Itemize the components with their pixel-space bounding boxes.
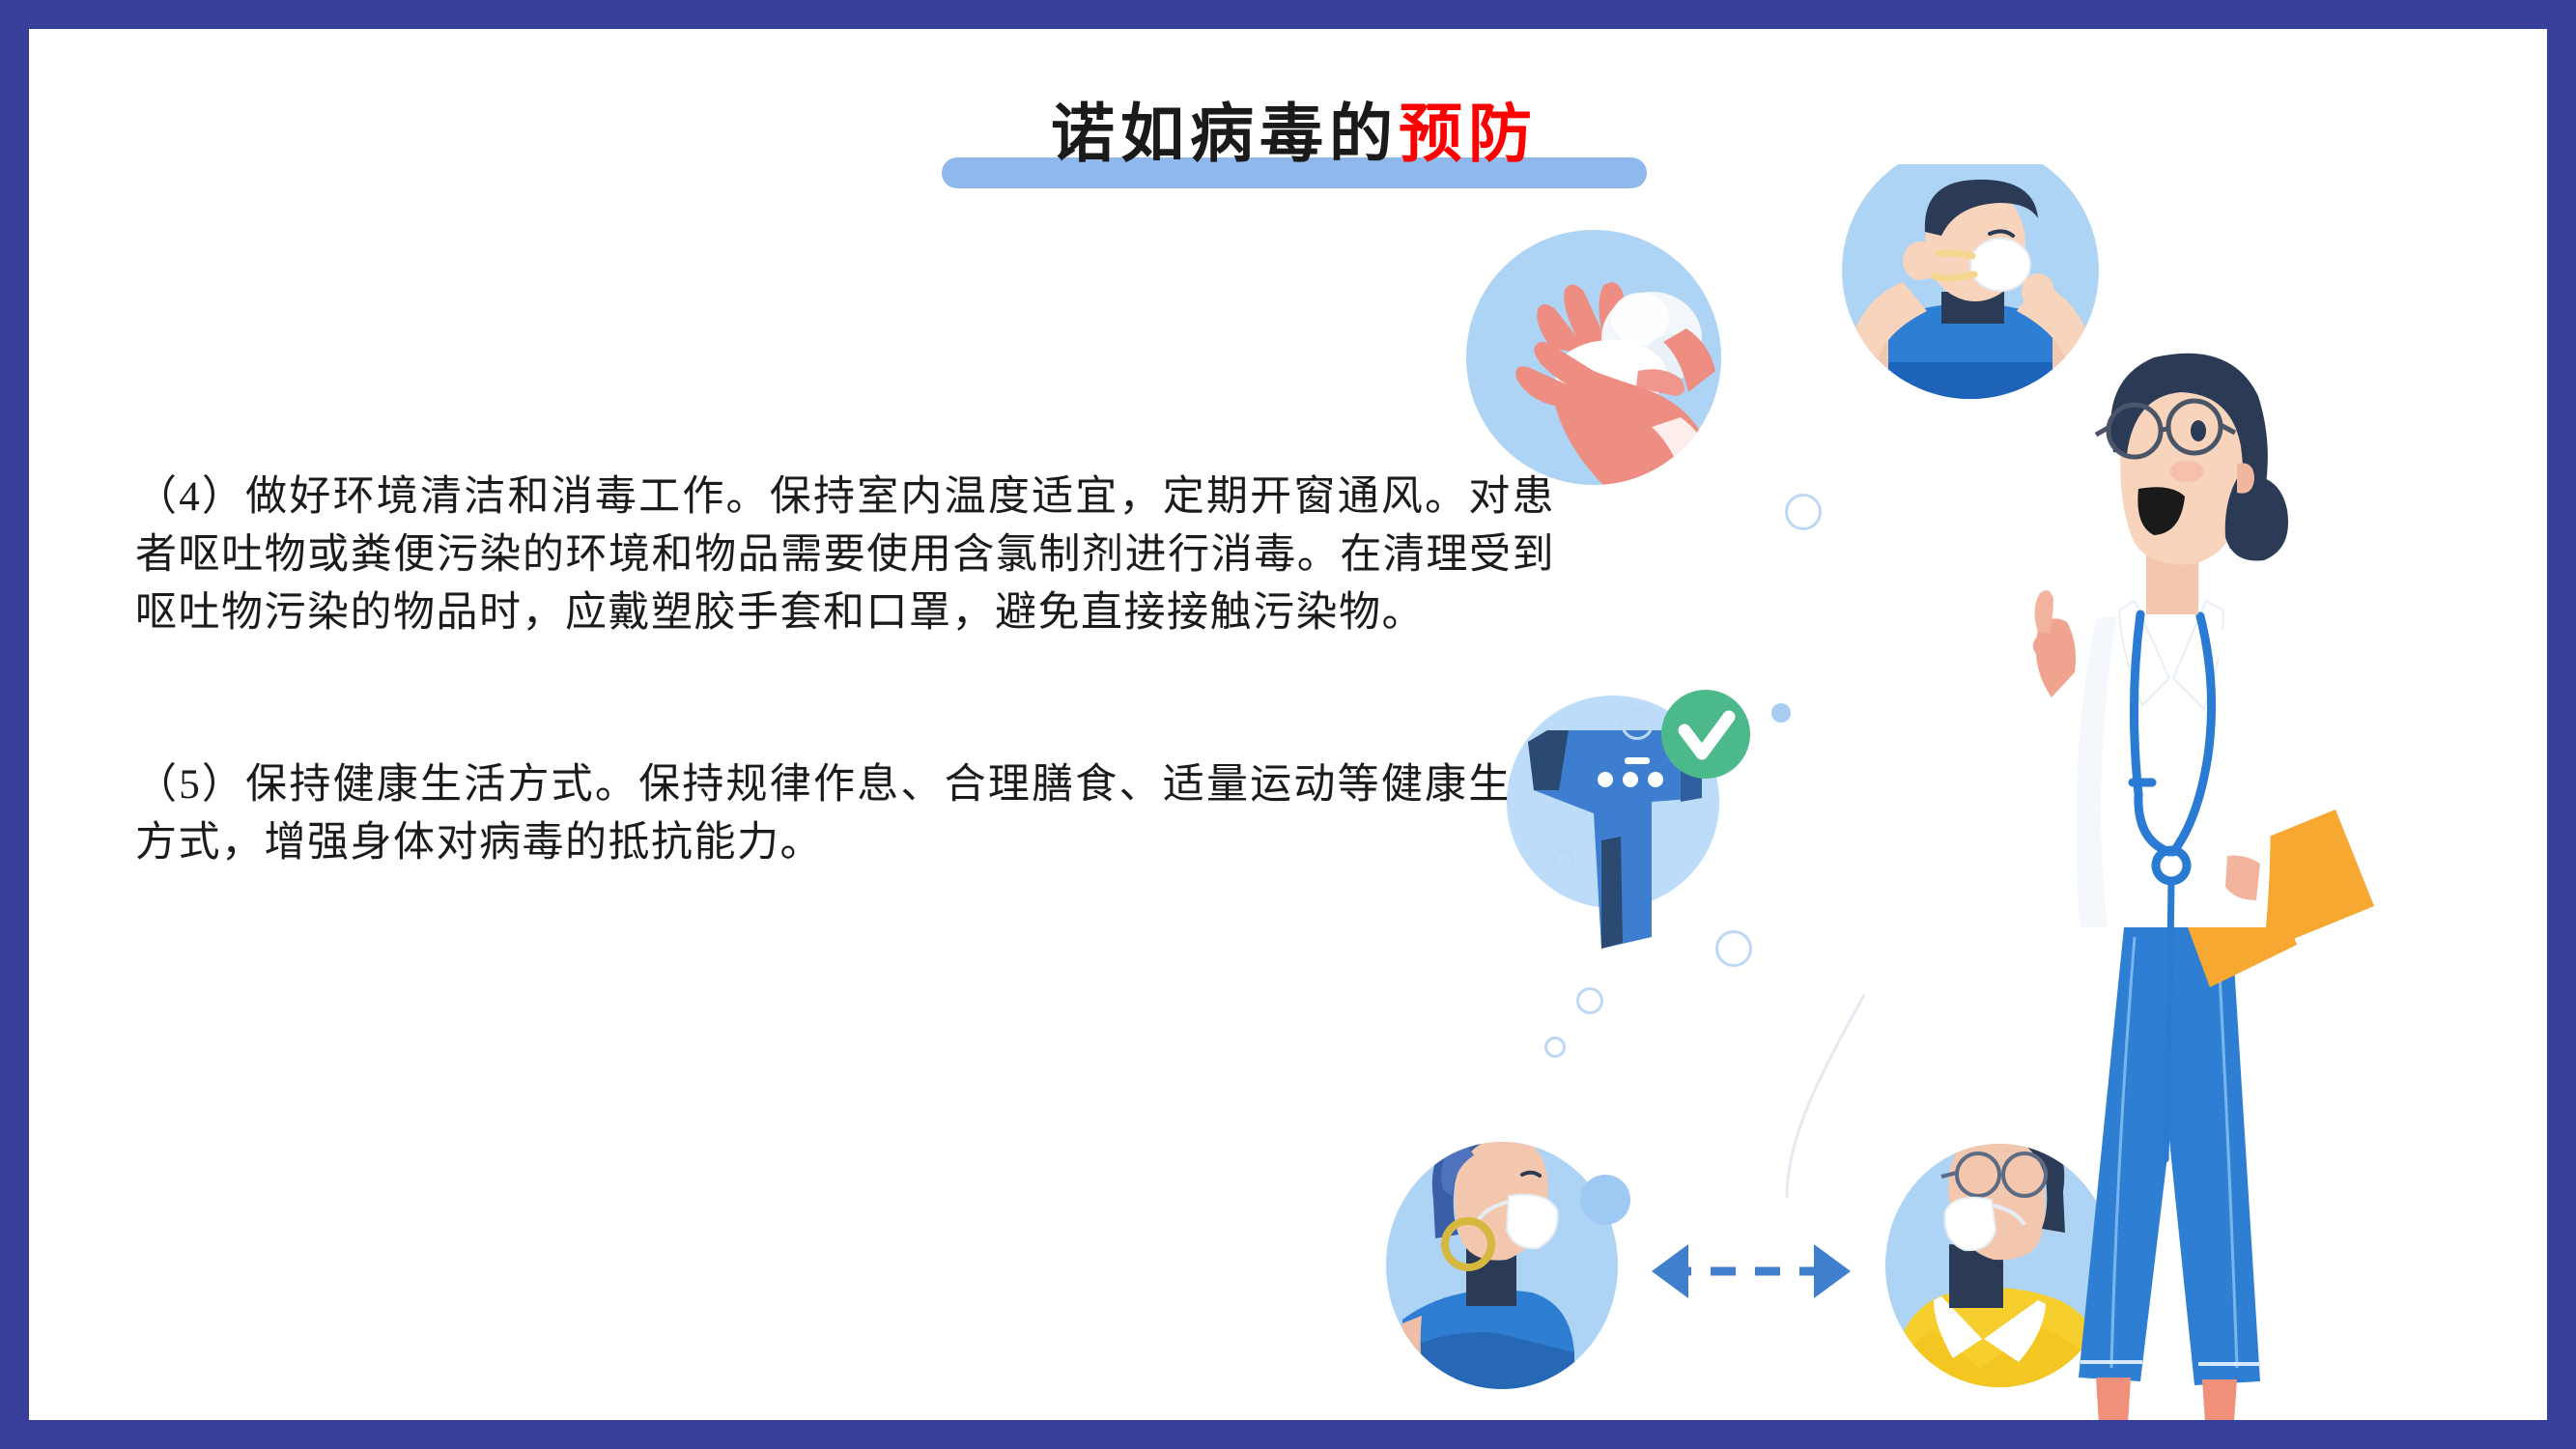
bubble-dot-icon [1580,1175,1630,1225]
social-distance-woman-circle [1386,1122,1618,1389]
distance-arrow [1652,1244,1851,1298]
social-distance-man-circle [1885,1118,2113,1387]
arrow-left-icon [1652,1244,1688,1298]
title-main: 诺如病毒的 [1051,97,1399,171]
title-accent: 预防 [1399,97,1538,171]
slide-frame: 诺如病毒的预防 （4）做好环境清洁和消毒工作。保持室内温度适宜，定期开窗通风。对… [0,0,2576,1449]
mask-wearing-man-circle [1821,164,2121,406]
paragraph-item-4: （4）做好环境清洁和消毒工作。保持室内温度适宜，定期开窗通风。对患者呕吐物或粪便… [135,469,1555,642]
handwashing-circle [1466,230,1721,497]
bubble-ring-icon [1552,849,1573,870]
covid-prevention-illustration [1362,164,2547,1420]
title-text: 诺如病毒的预防 [609,97,1980,172]
paragraph-item-5: （5）保持健康生活方式。保持规律作息、合理膳食、适量运动等健康生活方式，增强身体… [135,756,1555,872]
body-content: （4）做好环境清洁和消毒工作。保持室内温度适宜，定期开窗通风。对患者呕吐物或粪便… [135,469,1555,872]
arrow-right-icon [1814,1244,1851,1298]
bubble-ring-icon [1785,494,1822,530]
illustration-canvas [1362,164,2547,1420]
bubble-dot-icon [1771,703,1791,723]
bubble-ring-icon [1715,930,1752,967]
bubble-ring-icon [1621,707,1654,740]
bubble-ring-icon [1544,1037,1566,1058]
connector-curve [1787,995,1864,1198]
slide-canvas: 诺如病毒的预防 （4）做好环境清洁和消毒工作。保持室内温度适宜，定期开窗通风。对… [29,29,2547,1420]
bubble-ring-icon [1576,987,1603,1014]
check-badge-icon [1661,690,1750,779]
